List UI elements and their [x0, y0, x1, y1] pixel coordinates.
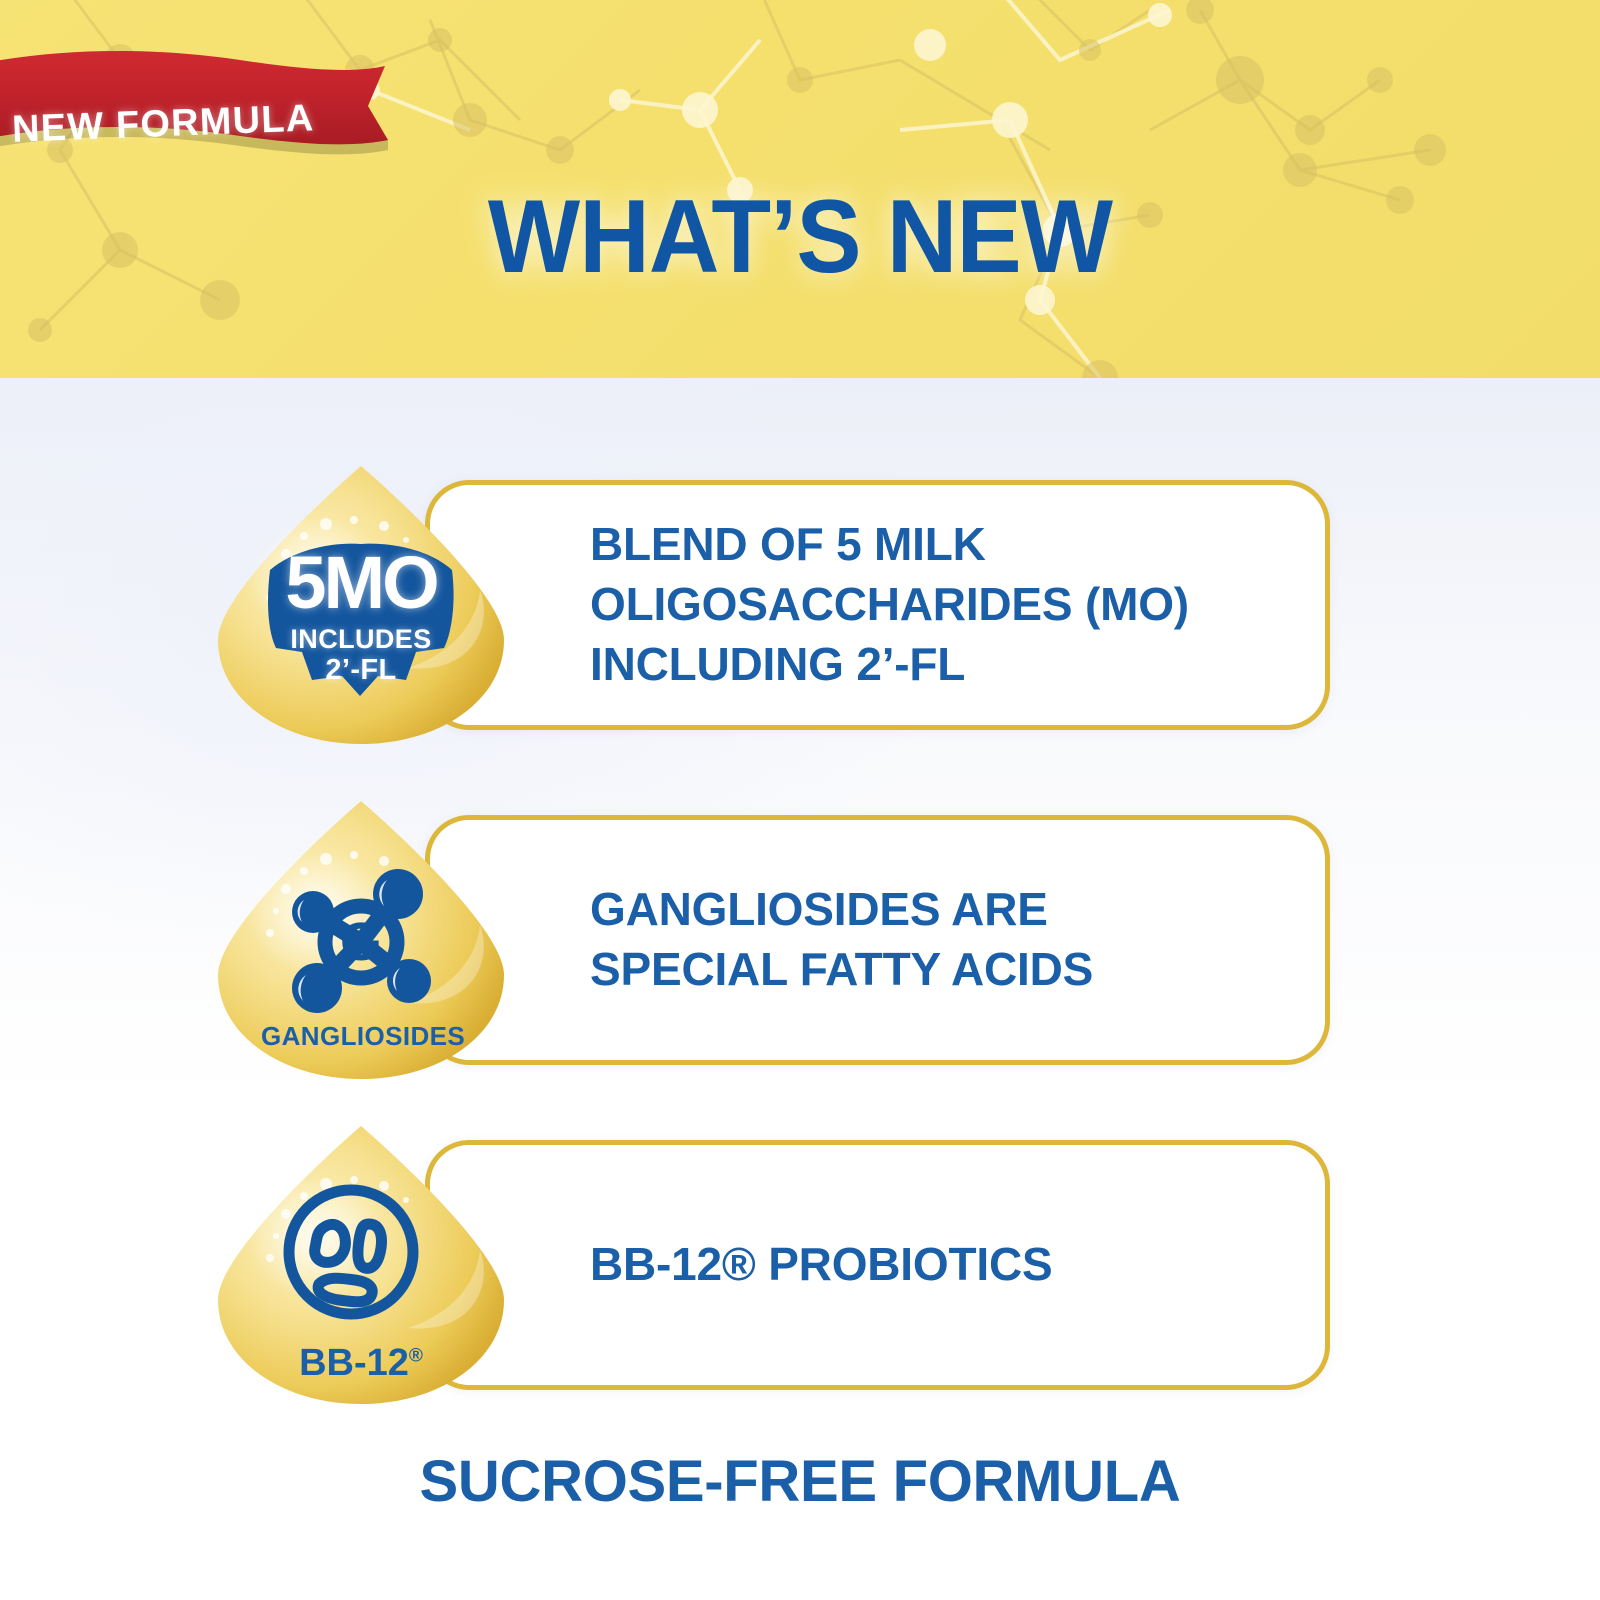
feature-card-text: BB-12® PROBIOTICS — [590, 1145, 1285, 1385]
feature-card: GANGLIOSIDES ARE SPECIAL FATTY ACIDS — [425, 815, 1330, 1065]
new-formula-ribbon: NEW FORMULA — [0, 44, 410, 174]
feature-line: INCLUDING 2’-FL — [590, 635, 1285, 695]
feature-line: SPECIAL FATTY ACIDS — [590, 940, 1285, 1000]
droplet-badge-bb12: BB-12® — [218, 1118, 504, 1408]
feature-card-text: GANGLIOSIDES ARE SPECIAL FATTY ACIDS — [590, 820, 1285, 1060]
feature-line: BB-12® PROBIOTICS — [590, 1235, 1285, 1295]
feature-card: BLEND OF 5 MILK OLIGOSACCHARIDES (MO) IN… — [425, 480, 1330, 730]
5mo-badge-icon: 5MO INCLUDES 2’-FL — [256, 540, 466, 700]
feature-line: OLIGOSACCHARIDES (MO) — [590, 575, 1285, 635]
feature-row-bb12: BB-12® PROBIOTICS — [0, 1118, 1600, 1408]
feature-line: BLEND OF 5 MILK — [590, 515, 1285, 575]
5mo-sub-line-1: INCLUDES — [256, 624, 466, 655]
ganglioside-caption: GANGLIOSIDES — [261, 1021, 461, 1052]
bb12-caption-text: BB-12 — [299, 1342, 409, 1384]
droplet-inner-content: BB-12® — [218, 1118, 504, 1408]
ganglioside-center-letter: G — [340, 912, 382, 972]
page-title: WHAT’S NEW — [48, 178, 1552, 297]
5mo-main-text: 5MO — [256, 546, 466, 620]
droplet-badge-5mo: 5MO INCLUDES 2’-FL — [218, 458, 504, 748]
footer-sucrose-free: SUCROSE-FREE FORMULA — [0, 1448, 1600, 1515]
5mo-sub-line-2: 2’-FL — [256, 654, 466, 687]
feature-row-5mo: BLEND OF 5 MILK OLIGOSACCHARIDES (MO) IN… — [0, 458, 1600, 748]
ganglioside-molecule-icon: G GANGLIOSIDES — [261, 856, 461, 1046]
droplet-badge-gangliosides: G GANGLIOSIDES — [218, 793, 504, 1083]
feature-row-gangliosides: GANGLIOSIDES ARE SPECIAL FATTY ACIDS — [0, 793, 1600, 1083]
bb12-caption: BB-12® — [261, 1342, 461, 1385]
droplet-inner-content: 5MO INCLUDES 2’-FL — [218, 458, 504, 748]
bb12-probiotic-icon: BB-12® — [261, 1180, 461, 1375]
features-list: BLEND OF 5 MILK OLIGOSACCHARIDES (MO) IN… — [0, 378, 1600, 1600]
feature-card: BB-12® PROBIOTICS — [425, 1140, 1330, 1390]
feature-card-text: BLEND OF 5 MILK OLIGOSACCHARIDES (MO) IN… — [590, 485, 1285, 725]
droplet-inner-content: G GANGLIOSIDES — [218, 793, 504, 1083]
bb12-registered-mark: ® — [409, 1345, 423, 1366]
feature-line: GANGLIOSIDES ARE — [590, 880, 1285, 940]
